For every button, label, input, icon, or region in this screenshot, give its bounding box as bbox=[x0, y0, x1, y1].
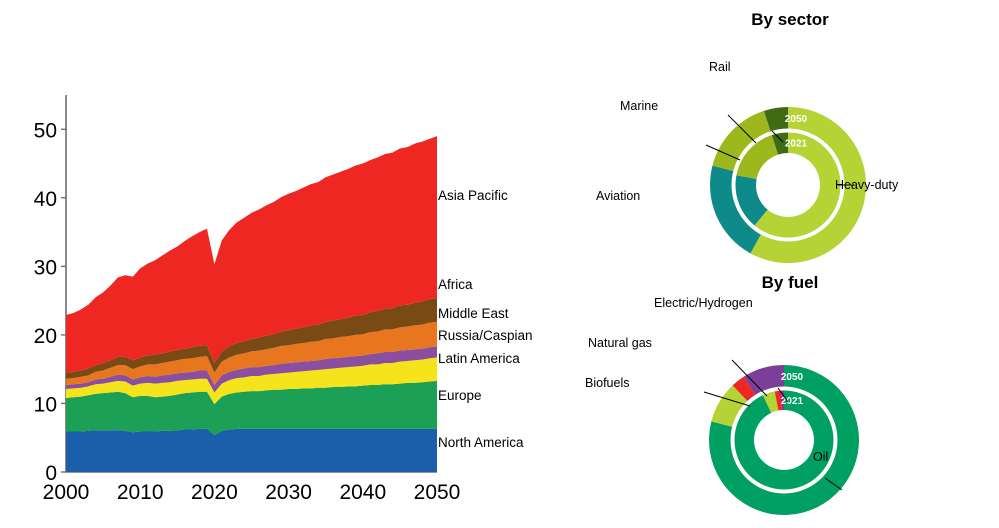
series-label-north-america: North America bbox=[438, 435, 524, 450]
fuel-year-inner: 2021 bbox=[781, 396, 804, 407]
series-label-latin-america: Latin America bbox=[438, 351, 520, 366]
y-tick-10: 10 bbox=[34, 393, 57, 416]
sector-label-aviation: Aviation bbox=[596, 189, 640, 203]
sector-year-inner: 2021 bbox=[785, 139, 808, 150]
y-tick-labels: 01020304050 bbox=[34, 119, 66, 485]
x-tick-2010: 2010 bbox=[117, 481, 164, 504]
x-tick-2040: 2040 bbox=[339, 481, 386, 504]
area-series-group bbox=[66, 136, 437, 472]
x-tick-2030: 2030 bbox=[265, 481, 312, 504]
sector-donut-chart: 20502021 bbox=[620, 55, 960, 270]
y-tick-30: 30 bbox=[34, 256, 57, 279]
fuel-year-outer: 2050 bbox=[781, 372, 804, 383]
sector-year-outer: 2050 bbox=[785, 114, 808, 125]
series-label-russia-caspian: Russia/Caspian bbox=[438, 328, 533, 343]
y-tick-40: 40 bbox=[34, 188, 57, 211]
y-tick-50: 50 bbox=[34, 119, 57, 142]
fuel-label-biofuels: Biofuels bbox=[585, 376, 629, 390]
chart-canvas: 01020304050 200020102020203020402050 Asi… bbox=[0, 0, 999, 527]
x-tick-2020: 2020 bbox=[191, 481, 238, 504]
sector-label-marine: Marine bbox=[620, 99, 658, 113]
fuel-label-electric-hydrogen: Electric/Hydrogen bbox=[654, 296, 753, 310]
series-label-europe: Europe bbox=[438, 388, 482, 403]
fuel-label-oil: Oil bbox=[813, 450, 828, 464]
series-label-middle-east: Middle East bbox=[438, 306, 509, 321]
sector-panel-title: By sector bbox=[620, 10, 960, 30]
fuel-rings-group: 20502021 bbox=[709, 365, 859, 515]
sector-label-heavy-duty: Heavy-duty bbox=[835, 178, 898, 192]
fuel-panel-title: By fuel bbox=[620, 273, 960, 293]
y-tick-20: 20 bbox=[34, 325, 57, 348]
fuel-donut-chart: 20502021 bbox=[620, 318, 960, 528]
x-tick-2000: 2000 bbox=[43, 481, 90, 504]
area-series-north-america bbox=[66, 429, 437, 472]
fuel-label-natural-gas: Natural gas bbox=[588, 336, 652, 350]
sector-label-rail: Rail bbox=[709, 60, 731, 74]
x-tick-2050: 2050 bbox=[414, 481, 461, 504]
series-label-asia-pacific: Asia Pacific bbox=[438, 188, 508, 203]
x-tick-labels: 200020102020203020402050 bbox=[43, 481, 461, 504]
series-label-africa: Africa bbox=[438, 277, 473, 292]
